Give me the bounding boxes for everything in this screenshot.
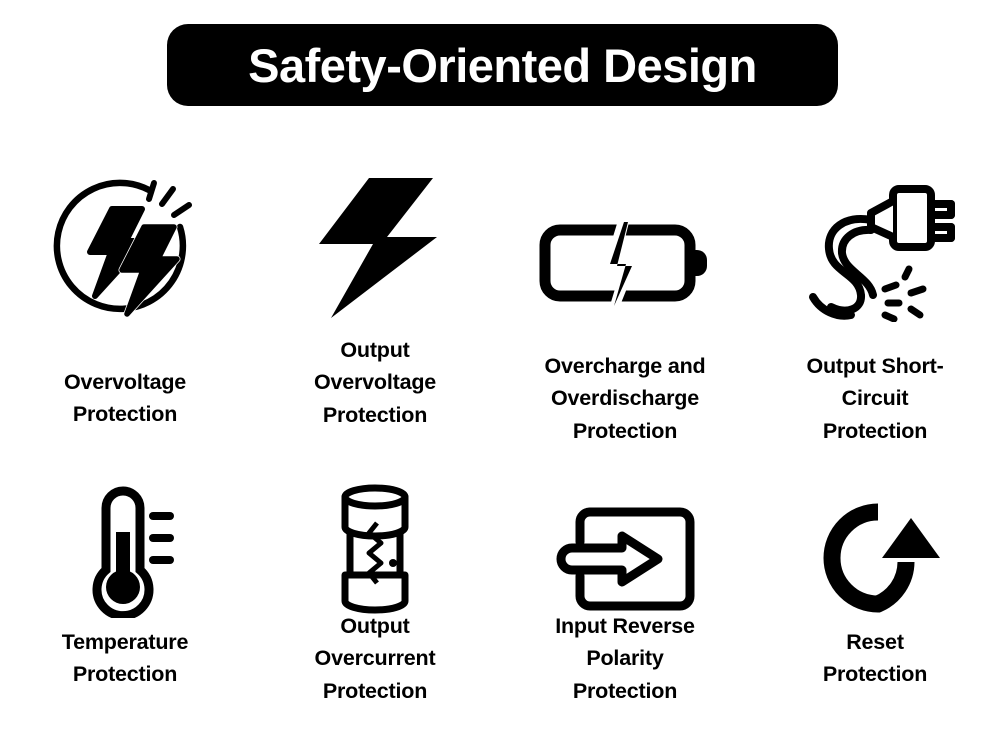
feature-label: Output Overcurrent Protection	[250, 610, 500, 707]
frayed-plug-icon	[750, 162, 1000, 322]
feature-row-top: Overvoltage Protection Output Overvoltag…	[0, 150, 1000, 450]
feature-item-overvoltage-protection: Overvoltage Protection	[0, 150, 250, 450]
feature-item-reset-protection: Reset Protection	[750, 450, 1000, 750]
feature-label: Input Reverse Polarity Protection	[500, 610, 750, 707]
page-title: Safety-Oriented Design	[248, 42, 757, 89]
feature-item-temperature-protection: Temperature Protection	[0, 450, 250, 750]
feature-grid: Overvoltage Protection Output Overvoltag…	[0, 150, 1000, 750]
feature-label: Overcharge and Overdischarge Protection	[500, 350, 750, 447]
feature-row-bottom: Temperature Protection	[0, 450, 1000, 750]
feature-label: Reset Protection	[750, 626, 1000, 691]
thermometer-icon	[0, 468, 250, 618]
feature-item-overcharge-overdischarge-protection: Overcharge and Overdischarge Protection	[500, 150, 750, 450]
title-banner: Safety-Oriented Design	[167, 24, 838, 106]
feature-label: Output Short- Circuit Protection	[750, 350, 1000, 447]
feature-label: Temperature Protection	[0, 626, 250, 691]
feature-label: Overvoltage Protection	[0, 366, 250, 431]
lightning-bolt-icon	[250, 162, 500, 322]
feature-item-output-overcurrent-protection: Output Overcurrent Protection	[250, 450, 500, 750]
reset-circular-arrow-icon	[750, 468, 1000, 618]
feature-label: Output Overvoltage Protection	[250, 334, 500, 431]
battery-bolt-icon	[500, 162, 750, 322]
feature-item-input-reverse-polarity-protection: Input Reverse Polarity Protection	[500, 450, 750, 750]
arrow-into-box-icon	[500, 468, 750, 618]
feature-item-output-overvoltage-protection: Output Overvoltage Protection	[250, 150, 500, 450]
fuse-icon	[250, 468, 500, 618]
lightning-burst-circle-icon	[0, 162, 250, 322]
feature-item-output-short-circuit-protection: Output Short- Circuit Protection	[750, 150, 1000, 450]
